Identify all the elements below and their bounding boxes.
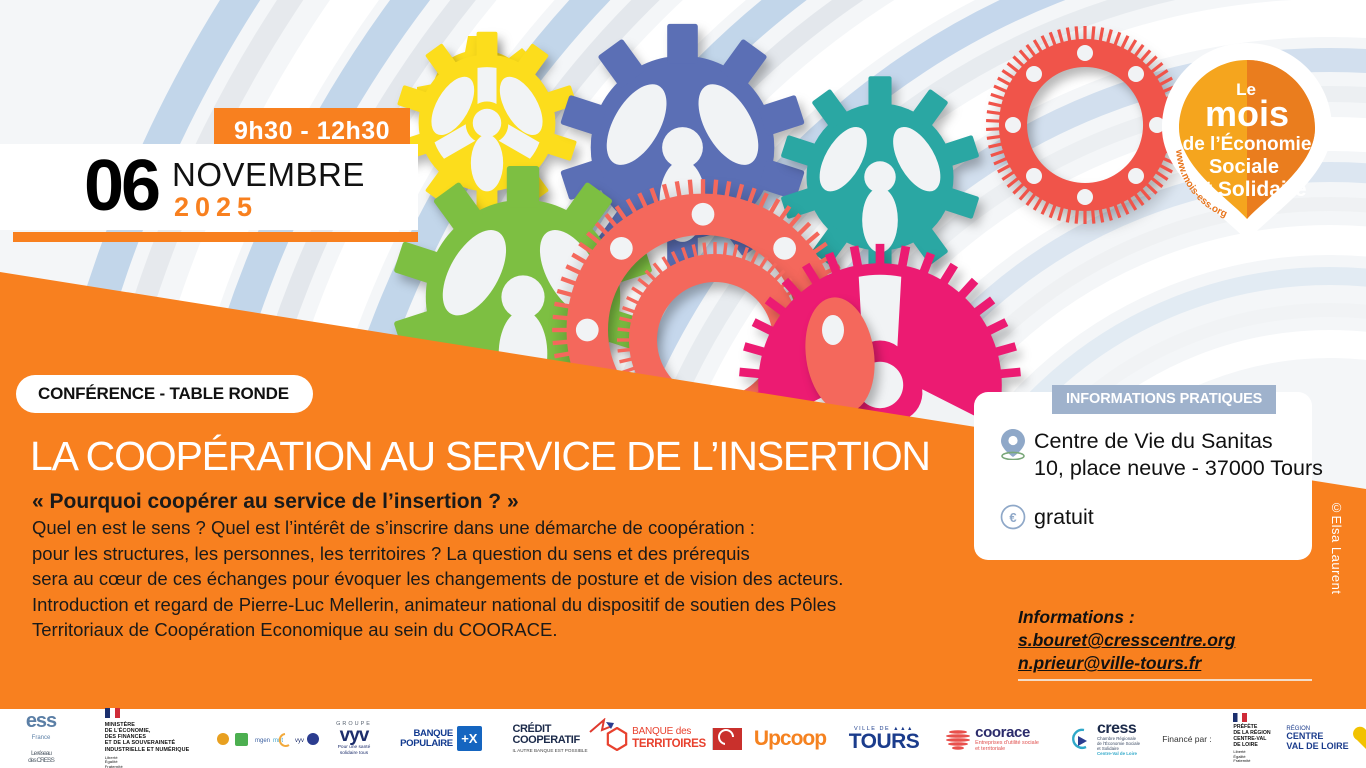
logo-ess-france: ess France Le réseaudes CRESS — [0, 713, 82, 765]
logo-region-centre: RÉGION CENTREVAL DE LOIRE — [1286, 713, 1366, 765]
logo-ministere-motto: LibertéÉgalitéFraternité — [105, 756, 190, 768]
venue-line-1: Centre de Vie du Sanitas — [1034, 429, 1273, 453]
logo-ministere-lines: DE L'ÉCONOMIE,DES FINANCESET DE LA SOUVE… — [105, 728, 190, 753]
logo-bp-mark: +X — [457, 726, 482, 751]
svg-text:mgen: mgen — [255, 738, 270, 744]
orange-underline-rule — [13, 232, 418, 242]
description-line: Introduction et regard de Pierre-Luc Mel… — [32, 592, 932, 618]
price-text: gratuit — [1034, 504, 1094, 531]
logo-cress-title: cress — [1097, 721, 1140, 736]
svg-text:mois: mois — [1205, 93, 1289, 134]
logo-prefet-motto: LibertéÉgalitéFraternité — [1233, 750, 1270, 764]
date-month: NOVEMBRE — [172, 158, 365, 191]
description-line: pour les structures, les personnes, les … — [32, 541, 932, 567]
svg-text:vyv: vyv — [295, 738, 304, 744]
logo-ess-caption: Le réseaudes CRESS — [26, 750, 56, 765]
logo-bdt-title: BANQUE des — [632, 727, 706, 738]
logo-tours-title: TOURS — [849, 732, 920, 752]
logo-cc-title: CRÉDITCOOPERATIF — [512, 724, 587, 746]
photo-credit: ©Elsa Laurent — [1329, 500, 1344, 595]
practical-info-header: INFORMATIONS PRATIQUES — [1052, 385, 1276, 414]
logo-banque-des-territoires: BANQUE des TERRITOIRES — [604, 713, 744, 765]
contact-label: Informations : — [1018, 606, 1318, 629]
price-row: € gratuit — [1000, 504, 1094, 535]
logo-ess-sub: France — [26, 730, 56, 747]
logo-cress: cress Chambre Régionalede l'Économie Soc… — [1052, 713, 1156, 765]
date-day: 06 — [84, 150, 158, 222]
venue-row: Centre de Vie du Sanitas 10, place neuve… — [1000, 428, 1323, 482]
description-line: Territoriaux de Coopération Economique a… — [32, 617, 932, 643]
logo-coorace: coorace Entreprises d'utilité socialeet … — [932, 713, 1052, 765]
svg-text:et Solidaire: et Solidaire — [1193, 178, 1306, 201]
logo-banque-populaire: BANQUEPOPULAIRE +X — [386, 713, 496, 765]
logo-credit-cooperatif: CRÉDITCOOPERATIF IL AUTRE BANQUE EST POS… — [496, 713, 604, 765]
french-flag-icon — [105, 708, 120, 718]
event-poster: Le mois de l’Économie Sociale et Solidai… — [0, 0, 1366, 768]
logo-bdt-sub: TERRITOIRES — [632, 738, 706, 750]
svg-text:€: € — [1009, 510, 1016, 525]
logo-region-sub: CENTREVAL DE LOIRE — [1286, 732, 1348, 751]
description-line: Quel en est le sens ? Quel est l’intérêt… — [32, 515, 932, 541]
logo-cc-sub: IL AUTRE BANQUE EST POSSIBLE — [512, 748, 587, 753]
date-box: 06 NOVEMBRE 2025 — [0, 144, 418, 230]
contact-email-1[interactable]: s.bouret@cresscentre.org — [1018, 629, 1318, 652]
venue-line-2: 10, place neuve - 37000 Tours — [1034, 456, 1323, 480]
logo-ministere: MINISTÈRE DE L'ÉCONOMIE,DES FINANCESET D… — [82, 713, 212, 765]
french-flag-icon — [1233, 713, 1247, 722]
logo-vyv-title: vyv — [336, 727, 372, 745]
logo-prefet: PRÉFÈTE DE LA RÉGIONCENTRE-VALDE LOIRE L… — [1218, 713, 1286, 765]
mois-ess-logo: Le mois de l’Économie Sociale et Solidai… — [1158, 38, 1336, 246]
page-title: LA COOPÉRATION AU SERVICE DE L’INSERTION — [30, 432, 930, 480]
page-subtitle: « Pourquoi coopérer au service de l’inse… — [32, 489, 519, 515]
description-text: Quel en est le sens ? Quel est l’intérêt… — [32, 515, 932, 643]
logo-upcoop-title: Upcoop — [754, 727, 826, 751]
logo-ministere-title: MINISTÈRE — [105, 722, 135, 728]
coorace-mark-icon — [945, 727, 971, 751]
logo-ess-title: ess — [26, 710, 56, 732]
location-pin-icon — [1000, 428, 1034, 465]
logo-coorace-title: coorace — [975, 725, 1039, 740]
contact-block: Informations : s.bouret@cresscentre.org … — [1018, 606, 1318, 675]
finance-label: Financé par : — [1162, 734, 1212, 744]
svg-text:de l’Économie: de l’Économie — [1183, 133, 1312, 155]
contact-divider — [1018, 679, 1312, 681]
logo-vyv-caption: Pour une santésolidaire tous — [336, 745, 372, 756]
conference-type-badge: CONFÉRENCE - TABLE RONDE — [16, 375, 313, 413]
region-bird-icon — [1352, 726, 1366, 752]
gear-red-ring — [985, 25, 1185, 225]
date-year: 2025 — [174, 194, 258, 221]
logo-upcoop: Upcoop — [744, 713, 836, 765]
logo-vyv: GROUPE vyv Pour une santésolidaire tous — [322, 713, 386, 765]
logo-coorace-sub: Entreprises d'utilité socialeet territor… — [975, 740, 1039, 752]
logo-prefet-sub: DE LA RÉGIONCENTRE-VALDE LOIRE — [1233, 730, 1270, 748]
logo-caisse-des-depots — [712, 728, 742, 750]
description-line: sera au cœur de ces échanges pour évoque… — [32, 566, 932, 592]
venue-text: Centre de Vie du Sanitas 10, place neuve… — [1034, 428, 1323, 482]
partner-logo-bar: ess France Le réseaudes CRESS MINISTÈRE … — [0, 706, 1366, 768]
logo-ville-de-tours: VILLE DE ▲▲▲ TOURS — [836, 713, 932, 765]
contact-email-2[interactable]: n.prieur@ville-tours.fr — [1018, 652, 1318, 675]
cress-mark-icon — [1068, 727, 1094, 751]
logo-bp-title: BANQUEPOPULAIRE — [400, 729, 453, 749]
logo-finance-par: Financé par : — [1156, 713, 1218, 765]
euro-icon: € — [1000, 504, 1034, 535]
logo-partner-strip: mgen mnt vyv — [212, 713, 322, 765]
logo-cress-sub: Chambre Régionalede l'Économie Socialeet… — [1097, 736, 1140, 756]
svg-text:Sociale: Sociale — [1209, 156, 1279, 178]
